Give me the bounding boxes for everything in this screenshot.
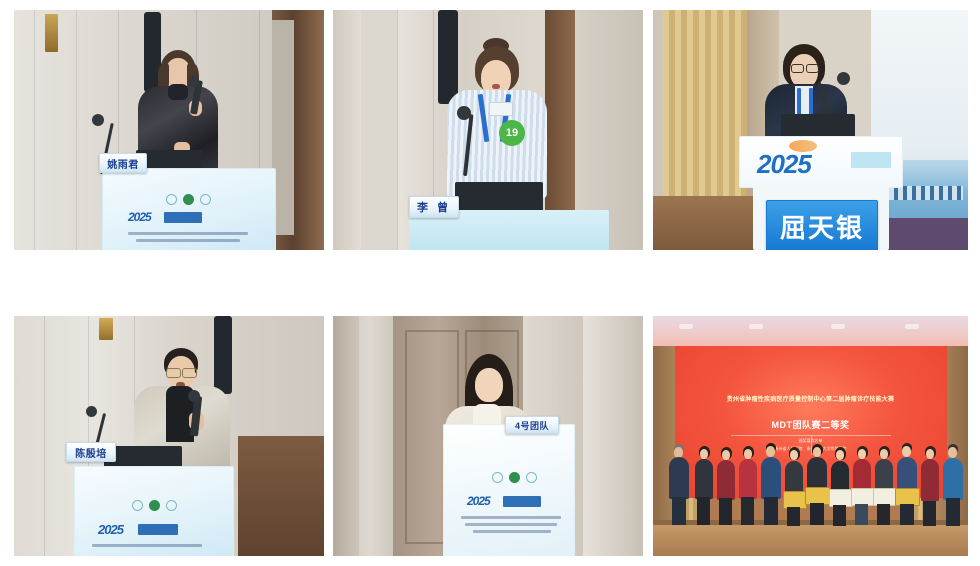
- photo-row1-col2[interactable]: 19 李 曾: [333, 10, 643, 250]
- glasses-icon: [806, 64, 819, 73]
- microphone-head: [837, 72, 850, 85]
- wall-column: [583, 316, 643, 556]
- podium-face-artwork: 2025: [86, 486, 222, 556]
- podium-text-line: [465, 523, 557, 526]
- head: [926, 449, 934, 459]
- logo-mark-icon: [200, 194, 211, 205]
- group-person: [941, 444, 965, 526]
- group-person: [759, 443, 783, 526]
- group-person: [693, 446, 715, 526]
- photo-grid: 2025 姚雨君: [0, 0, 980, 566]
- podium-logo-tag: [164, 212, 202, 223]
- scene-award-ceremony: 贵州省肿瘤性疾病医疗质量控制中心第二届肿瘤诊疗技能大赛 MDT团队赛二等奖 颁奖…: [653, 316, 968, 556]
- group-person: [851, 446, 873, 526]
- scene-conference-hall-4: 2025 陈殷培: [14, 316, 324, 556]
- logo-mark-icon: [166, 500, 177, 511]
- legs: [810, 503, 824, 525]
- legs: [697, 497, 710, 525]
- torso: [739, 459, 757, 499]
- podium-year-logo: 2025: [467, 494, 490, 508]
- badge-number: 19: [499, 120, 525, 146]
- podium-text-line: [92, 544, 202, 547]
- award-group-photo: [653, 316, 968, 556]
- torso: [761, 457, 781, 499]
- head: [836, 450, 844, 460]
- group-person: [919, 446, 941, 526]
- glasses-icon: [166, 368, 181, 378]
- podium-face-artwork: 2025: [110, 186, 266, 250]
- podium-text-line: [136, 239, 240, 242]
- group-person: [829, 447, 851, 526]
- podium-year-logo: 2025: [98, 522, 123, 537]
- logo-mark-icon: [183, 194, 194, 205]
- podium-text-line: [461, 516, 561, 519]
- photo-row2-col3[interactable]: 贵州省肿瘤性疾病医疗质量控制中心第二届肿瘤诊疗技能大赛 MDT团队赛二等奖 颁奖…: [653, 316, 968, 556]
- group-person: [805, 444, 829, 526]
- wall-sconce: [99, 318, 113, 340]
- microphone-head: [188, 390, 200, 402]
- legs: [741, 497, 754, 525]
- mouth: [492, 84, 500, 89]
- table-microphone-head: [92, 114, 104, 126]
- speaker-person: 19: [441, 38, 551, 198]
- photo-row1-col3[interactable]: 2025 屈天银: [653, 10, 968, 250]
- group-person: [737, 446, 759, 526]
- podium-logo-row: [461, 472, 567, 483]
- legs: [787, 507, 800, 526]
- logo-mark-icon: [492, 472, 503, 483]
- nameplate-speaker: 屈天银: [766, 200, 878, 250]
- legs: [946, 498, 960, 526]
- scene-conference-hall-3: 2025 屈天银: [653, 10, 968, 250]
- nameplate-speaker: 姚雨君: [99, 153, 147, 173]
- group-person: [667, 444, 691, 526]
- podium-logo-tag: [503, 496, 541, 507]
- scene-conference-hall-5: 2025 4号团队: [333, 316, 643, 556]
- nameplate-speaker: 陈殷培: [66, 442, 116, 462]
- scene-conference-hall-1: 2025 姚雨君: [14, 10, 324, 250]
- wall-column: [333, 316, 359, 556]
- wall-seam: [397, 10, 398, 250]
- podium-logo-row: [110, 194, 266, 205]
- logo-mark-icon: [149, 500, 160, 511]
- group-person: [715, 447, 737, 526]
- torso: [717, 460, 735, 500]
- podium-logo-row: [86, 500, 222, 511]
- wall-column: [333, 10, 361, 250]
- glasses-icon: [791, 64, 804, 73]
- legs: [672, 497, 686, 525]
- podium-year-logo-art: 2025: [755, 140, 841, 182]
- logo-mark-icon: [526, 472, 537, 483]
- legs: [855, 504, 868, 525]
- head: [700, 449, 708, 459]
- neck-collar: [168, 84, 188, 100]
- dark-wood-trim: [238, 436, 324, 556]
- torso: [921, 459, 939, 501]
- group-person: [895, 443, 919, 526]
- scene-conference-hall-2: 19 李 曾: [333, 10, 643, 250]
- wall-sconce: [45, 14, 58, 52]
- photo-row2-col2[interactable]: 2025 4号团队: [333, 316, 643, 556]
- group-person: [873, 446, 895, 526]
- photo-row1-col1[interactable]: 2025 姚雨君: [14, 10, 324, 250]
- wall-seam: [34, 10, 35, 250]
- podium-face-artwork: 2025: [461, 458, 567, 550]
- head: [858, 449, 866, 459]
- podium-text-line: [128, 232, 248, 235]
- wall-seam: [44, 316, 45, 556]
- legs: [764, 497, 778, 525]
- wall-column: [361, 10, 397, 250]
- legs: [833, 505, 846, 526]
- torso: [943, 458, 963, 500]
- head: [744, 449, 752, 459]
- microphone-head: [188, 76, 199, 87]
- logo-mark-icon: [166, 194, 177, 205]
- torso: [695, 459, 713, 499]
- podium-sublogo: [851, 152, 891, 168]
- head: [790, 450, 798, 460]
- projection-detail: [885, 186, 963, 200]
- head: [948, 447, 957, 458]
- legs: [923, 501, 936, 526]
- legs: [719, 498, 732, 525]
- head: [880, 449, 888, 459]
- head: [475, 368, 503, 402]
- table-microphone-head: [457, 106, 471, 120]
- legs: [877, 504, 890, 525]
- legs: [900, 504, 914, 525]
- nameplate-team: 4号团队: [505, 416, 559, 434]
- podium-logo-tag: [138, 524, 178, 535]
- nameplate-speaker: 李 曾: [409, 196, 459, 218]
- logo-mark-icon: [509, 472, 520, 483]
- podium-year-logo: 2025: [757, 149, 811, 180]
- head: [902, 446, 911, 457]
- photo-row2-col1[interactable]: 2025 陈殷培: [14, 316, 324, 556]
- head: [813, 447, 821, 457]
- logo-mark-icon: [132, 500, 143, 511]
- glasses-icon: [182, 368, 197, 378]
- curtain: [663, 10, 747, 208]
- head: [722, 450, 730, 460]
- table-microphone-head: [86, 406, 97, 417]
- torso: [669, 457, 689, 499]
- group-person: [783, 447, 805, 526]
- id-card: [489, 102, 513, 116]
- podium-year-logo: 2025: [128, 210, 151, 224]
- podium-text-line: [473, 530, 551, 533]
- wall-seam: [76, 10, 77, 250]
- head: [766, 446, 775, 457]
